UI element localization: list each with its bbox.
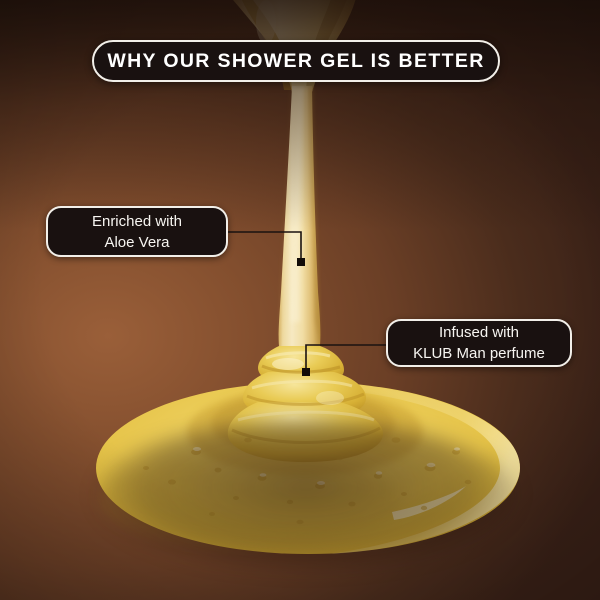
product-feature-poster: WHY OUR SHOWER GEL IS BETTER Enriched wi… xyxy=(0,0,600,600)
title-banner: WHY OUR SHOWER GEL IS BETTER xyxy=(92,40,500,82)
callout-aloe-vera-line2: Aloe Vera xyxy=(104,232,169,253)
callout-perfume-line1: Infused with xyxy=(439,322,519,343)
gel-pool-shadow xyxy=(96,420,516,570)
callout-klub-man-perfume: Infused with KLUB Man perfume xyxy=(386,319,572,367)
callout-aloe-vera: Enriched with Aloe Vera xyxy=(46,206,228,257)
page-title: WHY OUR SHOWER GEL IS BETTER xyxy=(107,50,484,73)
top-shading-overlay xyxy=(0,0,600,230)
callout-perfume-line2: KLUB Man perfume xyxy=(413,343,545,364)
callout-aloe-vera-line1: Enriched with xyxy=(92,211,182,232)
